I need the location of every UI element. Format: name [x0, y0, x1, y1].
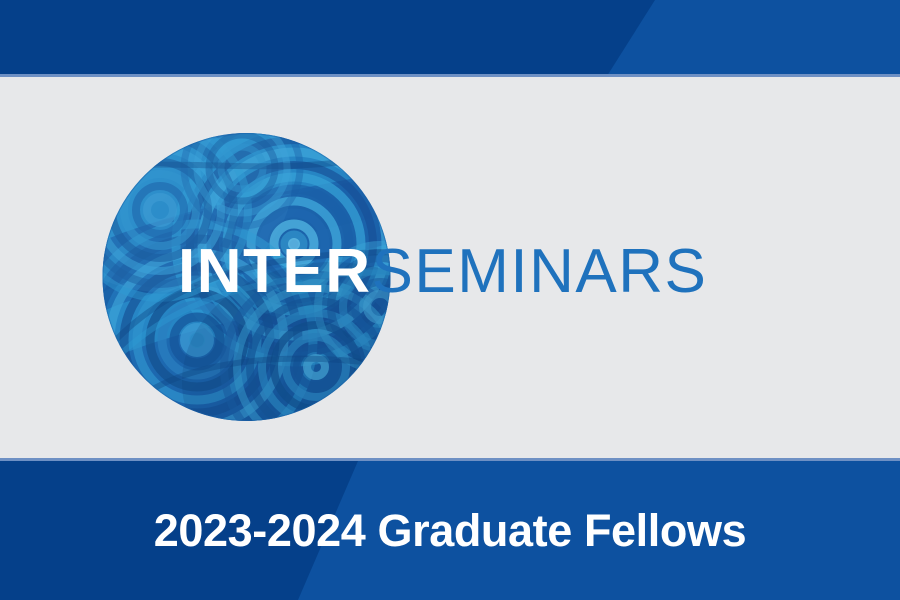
top-color-bar — [0, 0, 900, 76]
banner-title: 2023-2024 Graduate Fellows — [0, 461, 900, 600]
intersections-seminars-banner: INTERSEMINARS 2023-2024 Graduate Fellows — [0, 0, 900, 600]
top-bar-diagonal-accent — [0, 0, 900, 76]
ripple-circle-icon — [102, 132, 391, 422]
